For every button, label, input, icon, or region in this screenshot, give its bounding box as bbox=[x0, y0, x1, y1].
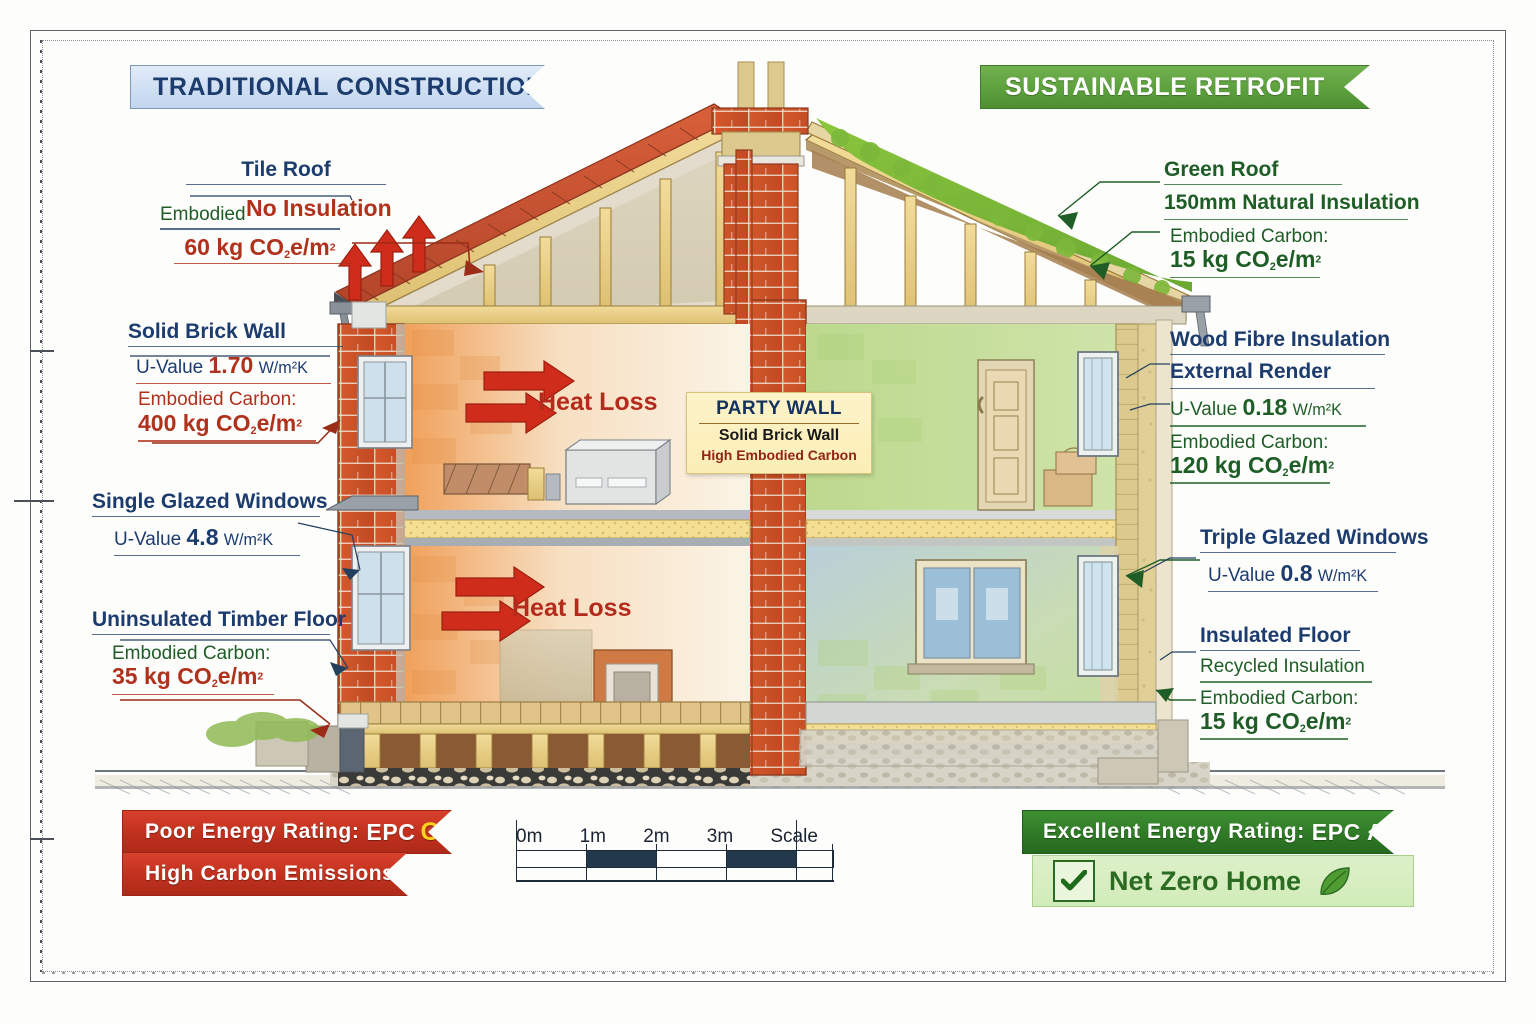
diagram-canvas: TRADITIONAL CONSTRUCTION SUSTAINABLE RET… bbox=[0, 0, 1536, 1024]
party-wall-line2: Solid Brick Wall bbox=[687, 427, 871, 445]
banner-traditional-construction: TRADITIONAL CONSTRUCTION bbox=[130, 65, 545, 109]
scale-tick-1: 1m bbox=[580, 826, 644, 848]
insulated-floor-title: Insulated Floor bbox=[1200, 624, 1440, 648]
glazing-uvalue-unit: W/m²K bbox=[224, 531, 273, 549]
scale-bar: 0m 1m 2m 3m Scale bbox=[516, 826, 834, 868]
callout-roof-embodied: Embodied No Insulation 60 kg CO2e/m2 bbox=[160, 196, 380, 269]
check-icon bbox=[1053, 860, 1095, 902]
rating-good-prefix: Excellent Energy Rating: bbox=[1043, 820, 1305, 844]
roof-no-insulation: No Insulation bbox=[246, 196, 392, 222]
roof-embodied-word: Embodied bbox=[160, 204, 246, 225]
callout-insulated-floor: Insulated Floor Recycled Insulation Embo… bbox=[1200, 624, 1440, 745]
callout-tile-roof: Tile Roof bbox=[186, 158, 386, 190]
scale-labels: 0m 1m 2m 3m Scale bbox=[516, 826, 834, 848]
green-roof-insulation: 150mm Natural Insulation bbox=[1164, 191, 1424, 215]
scale-tick-3: 3m bbox=[707, 826, 771, 848]
wall-embodied-value: 400 kg CO bbox=[138, 410, 251, 436]
uninsulated-floor-title: Uninsulated Timber Floor bbox=[92, 608, 372, 632]
solid-brick-wall-title: Solid Brick Wall bbox=[128, 320, 378, 344]
scale-caption: Scale bbox=[770, 826, 834, 848]
triple-uvalue-unit: W/m²K bbox=[1318, 567, 1367, 585]
scale-tick-0: 0m bbox=[516, 826, 580, 848]
single-glazed-title: Single Glazed Windows bbox=[92, 490, 362, 514]
green-roof-embodied-sup: 2 bbox=[1315, 254, 1321, 266]
callout-green-roof: Green Roof 150mm Natural Insulation Embo… bbox=[1164, 158, 1424, 283]
retrofit-wall-uvalue: 0.18 bbox=[1243, 394, 1288, 420]
banner-traditional-label: TRADITIONAL CONSTRUCTION bbox=[153, 73, 545, 102]
insulated-floor-sup: 2 bbox=[1345, 715, 1351, 727]
wall-uvalue-unit: W/m²K bbox=[259, 359, 308, 377]
rating-poor-banner: Poor Energy Rating: EPC G bbox=[122, 810, 452, 854]
rating-poor-epc: EPC bbox=[366, 819, 415, 846]
triple-uvalue: 0.8 bbox=[1281, 560, 1313, 586]
glazing-uvalue: 4.8 bbox=[187, 524, 219, 550]
heat-loss-label-upper: Heat Loss bbox=[538, 388, 657, 417]
rating-excellent-banner: Excellent Energy Rating: EPC A+ bbox=[1022, 810, 1394, 854]
triple-uvalue-label: U-Value bbox=[1208, 565, 1275, 586]
retrofit-wall-embodied-tail: e/m bbox=[1289, 452, 1329, 478]
insulated-floor-value: 15 kg CO bbox=[1200, 708, 1300, 734]
banner-sustainable-label: SUSTAINABLE RETROFIT bbox=[1005, 73, 1325, 102]
green-roof-embodied-tail: e/m bbox=[1276, 246, 1316, 272]
tile-roof-title: Tile Roof bbox=[186, 158, 386, 182]
callout-single-glazed-windows: Single Glazed Windows U-Value 4.8 W/m²K bbox=[92, 490, 362, 561]
floor-embodied-label: Embodied Carbon: bbox=[112, 643, 372, 664]
wall-embodied-sup: 2 bbox=[296, 417, 302, 429]
roof-embodied-tail: e/m bbox=[290, 234, 330, 260]
heat-loss-label-lower: Heat Loss bbox=[512, 594, 631, 623]
callout-triple-glazed-windows: Triple Glazed Windows U-Value 0.8 W/m²K bbox=[1200, 526, 1440, 597]
scale-bar-segments bbox=[516, 850, 834, 868]
wall-uvalue-label: U-Value bbox=[136, 357, 203, 378]
frame-tick-1 bbox=[30, 350, 54, 352]
banner-sustainable-retrofit: SUSTAINABLE RETROFIT bbox=[980, 65, 1370, 109]
roof-embodied-sup: 2 bbox=[330, 241, 336, 253]
insulated-floor-tail: e/m bbox=[1306, 708, 1346, 734]
frame-tick-2 bbox=[14, 500, 54, 502]
floor-embodied-value: 35 kg CO bbox=[112, 663, 212, 689]
external-render-title: External Render bbox=[1170, 360, 1420, 384]
callout-wood-fibre-wall: Wood Fibre Insulation External Render U-… bbox=[1170, 328, 1420, 489]
insulated-floor-embodied-label: Embodied Carbon: bbox=[1200, 688, 1440, 709]
retrofit-wall-uvalue-label: U-Value bbox=[1170, 399, 1237, 420]
retrofit-wall-embodied-value: 120 kg CO bbox=[1170, 452, 1283, 478]
frame-tick-3 bbox=[30, 838, 54, 840]
net-zero-label: Net Zero Home bbox=[1109, 866, 1301, 897]
wall-embodied-tail: e/m bbox=[257, 410, 297, 436]
triple-glazed-title: Triple Glazed Windows bbox=[1200, 526, 1440, 550]
wall-embodied-label: Embodied Carbon: bbox=[138, 389, 378, 410]
rating-high-emissions-banner: High Carbon Emissions bbox=[122, 852, 408, 896]
insulated-floor-subtitle: Recycled Insulation bbox=[1200, 656, 1440, 677]
scale-tick-2: 2m bbox=[643, 826, 707, 848]
wood-fibre-title: Wood Fibre Insulation bbox=[1170, 328, 1420, 352]
party-wall-title: PARTY WALL bbox=[687, 398, 871, 420]
retrofit-wall-embodied-label: Embodied Carbon: bbox=[1170, 432, 1420, 453]
wall-uvalue: 1.70 bbox=[209, 352, 254, 378]
glazing-uvalue-label: U-Value bbox=[114, 529, 181, 550]
retrofit-wall-embodied-sup: 2 bbox=[1328, 459, 1334, 471]
net-zero-home-badge: Net Zero Home bbox=[1032, 855, 1414, 907]
green-roof-embodied-value: 15 kg CO bbox=[1170, 246, 1270, 272]
callout-uninsulated-floor: Uninsulated Timber Floor Embodied Carbon… bbox=[92, 608, 372, 700]
party-wall-callout-box: PARTY WALL Solid Brick Wall High Embodie… bbox=[686, 392, 872, 474]
callout-solid-brick-wall: Solid Brick Wall U-Value 1.70 W/m²K Embo… bbox=[128, 320, 378, 447]
green-roof-embodied-label: Embodied Carbon: bbox=[1170, 226, 1424, 247]
roof-embodied-value: 60 kg CO bbox=[184, 234, 284, 260]
floor-embodied-tail: e/m bbox=[218, 663, 258, 689]
retrofit-wall-uvalue-unit: W/m²K bbox=[1293, 401, 1342, 419]
floor-embodied-sup: 2 bbox=[257, 671, 263, 683]
green-roof-title: Green Roof bbox=[1164, 158, 1424, 182]
leaf-icon-large bbox=[1315, 864, 1355, 898]
party-wall-line3: High Embodied Carbon bbox=[687, 447, 871, 463]
frame-tick-row bbox=[42, 972, 1494, 974]
high-emissions-label: High Carbon Emissions bbox=[145, 862, 394, 886]
frame-tick-column bbox=[40, 40, 42, 972]
rating-poor-prefix: Poor Energy Rating: bbox=[145, 820, 359, 844]
